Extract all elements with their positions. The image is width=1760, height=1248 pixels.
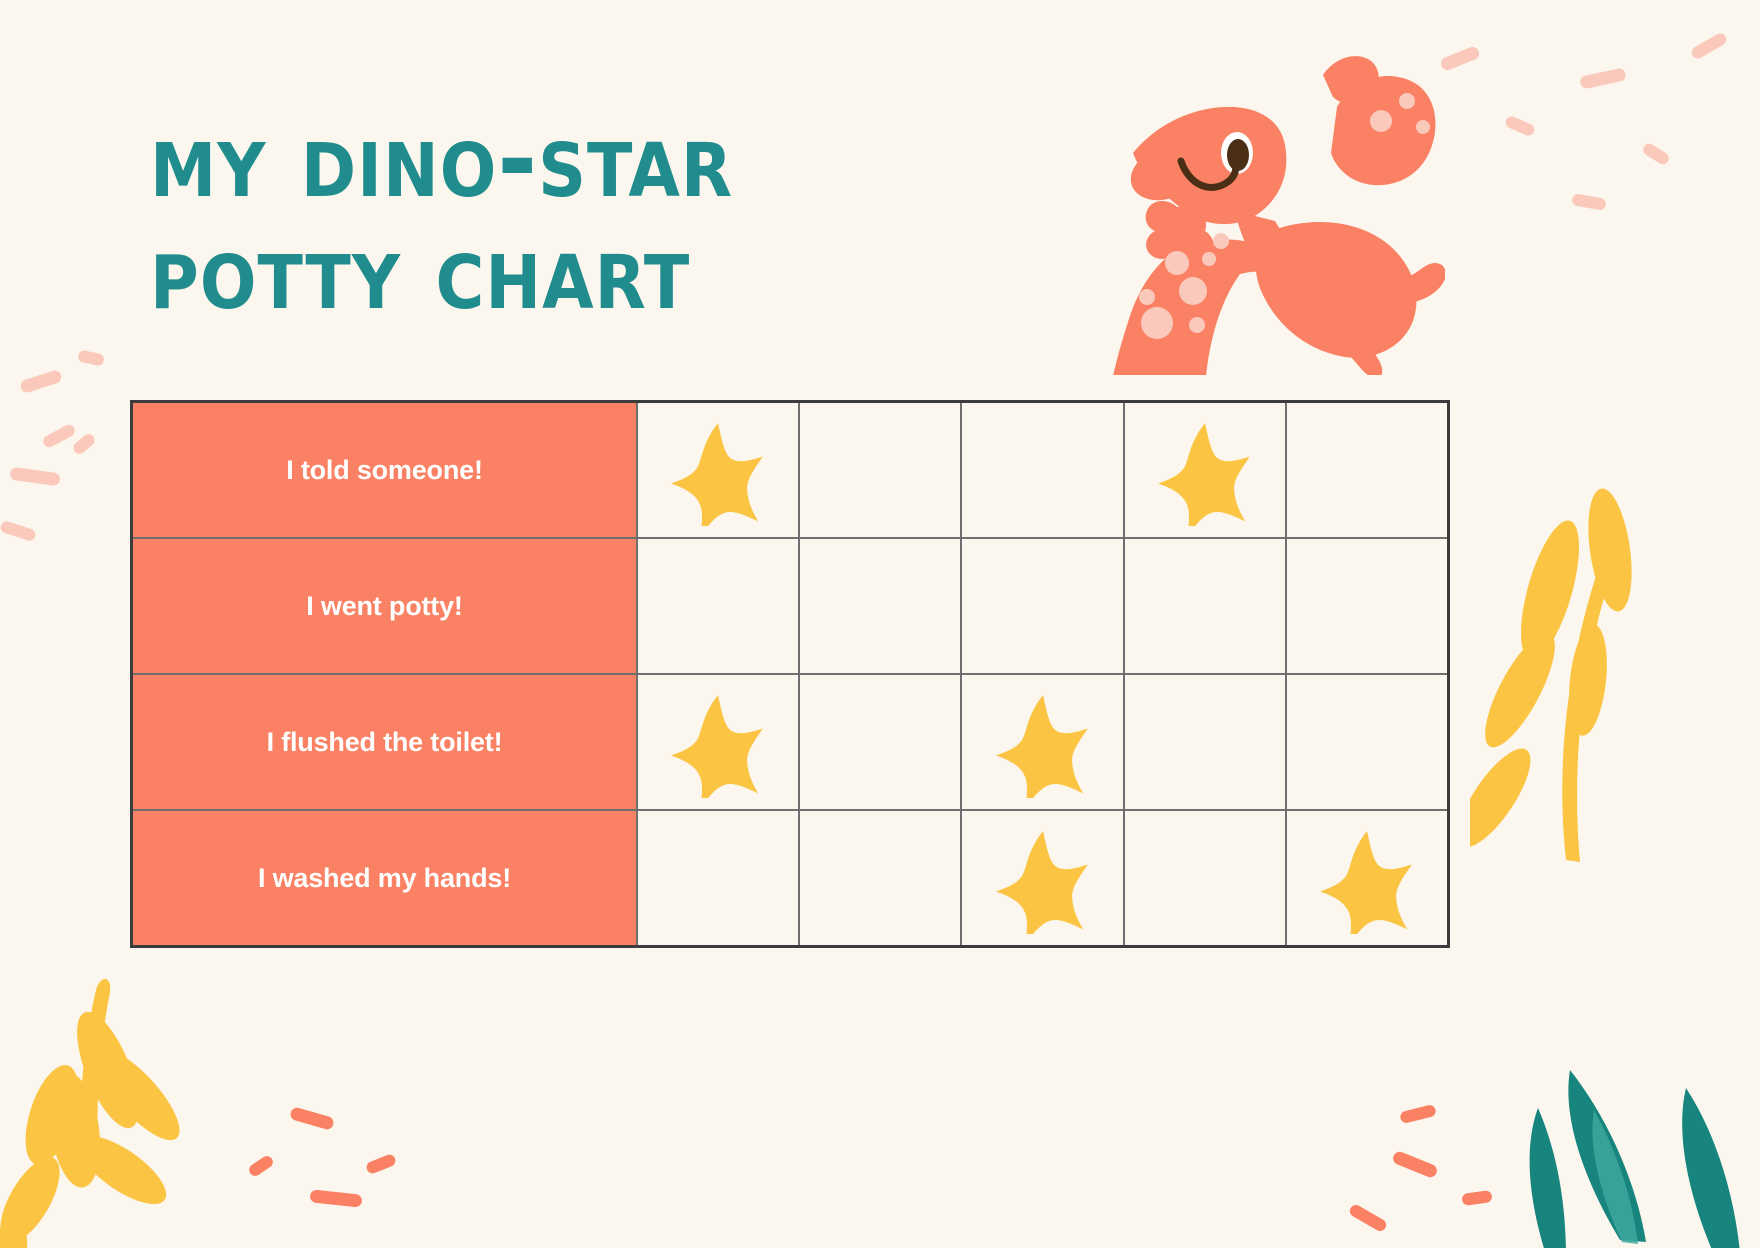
star-icon [987, 822, 1099, 934]
confetti-dash [77, 349, 105, 366]
pterodactyl-icon [1085, 35, 1445, 375]
cell-r3c1[interactable] [638, 675, 800, 809]
confetti-dash [289, 1106, 335, 1131]
confetti-dash [1579, 67, 1627, 89]
cell-r2c1[interactable] [638, 539, 800, 673]
cell-r4c5[interactable] [1287, 811, 1447, 945]
row-label-washed-hands: I washed my hands! [133, 811, 638, 945]
cell-r3c3[interactable] [962, 675, 1124, 809]
title-line-2: Potty Chart [150, 220, 1086, 325]
confetti-dash [365, 1153, 397, 1175]
row-label-told-someone: I told someone! [133, 403, 638, 537]
cell-r1c4[interactable] [1125, 403, 1287, 537]
confetti-dash [1461, 1190, 1492, 1206]
table-row: I went potty! [133, 539, 1447, 675]
cell-r1c3[interactable] [962, 403, 1124, 537]
title-line-1: My Dino-Star [150, 108, 1086, 213]
cell-r1c2[interactable] [800, 403, 962, 537]
confetti-dash [0, 520, 37, 543]
confetti-dash [9, 467, 60, 487]
cell-r3c5[interactable] [1287, 675, 1447, 809]
row-label-went-potty: I went potty! [133, 539, 638, 673]
cell-r3c4[interactable] [1125, 675, 1287, 809]
cell-r4c2[interactable] [800, 811, 962, 945]
confetti-dash [247, 1154, 275, 1178]
foliage-right-yellow [1470, 480, 1760, 900]
cell-r2c2[interactable] [800, 539, 962, 673]
confetti-dash [1504, 114, 1536, 137]
confetti-dash [1690, 31, 1729, 60]
star-icon [1311, 822, 1423, 934]
cell-r1c1[interactable] [638, 403, 800, 537]
confetti-dash [71, 432, 97, 457]
star-icon [987, 686, 1099, 798]
star-icon [662, 686, 774, 798]
table-row: I told someone! [133, 403, 1447, 539]
confetti-dash [1391, 1150, 1439, 1179]
cell-r2c5[interactable] [1287, 539, 1447, 673]
star-icon [1149, 414, 1261, 526]
confetti-dash [19, 369, 63, 394]
table-row: I washed my hands! [133, 811, 1447, 945]
potty-chart-table: I told someone! I went potty! I flushed … [130, 400, 1450, 948]
cell-r4c1[interactable] [638, 811, 800, 945]
table-row: I flushed the toilet! [133, 675, 1447, 811]
cell-r2c4[interactable] [1125, 539, 1287, 673]
cell-r2c3[interactable] [962, 539, 1124, 673]
confetti-dash [1571, 193, 1607, 211]
confetti-dash [1348, 1203, 1389, 1233]
page-title: My Dino-Star Potty Chart [150, 108, 1050, 310]
cell-r1c5[interactable] [1287, 403, 1447, 537]
poster-canvas: My Dino-Star Potty Chart [0, 0, 1760, 1248]
foliage-bottom-right [1500, 950, 1760, 1248]
confetti-dash [41, 423, 77, 450]
star-icon [662, 414, 774, 526]
confetti-dash [309, 1189, 362, 1207]
confetti-dash [1439, 45, 1481, 72]
confetti-dash [1641, 141, 1671, 166]
cell-r4c3[interactable] [962, 811, 1124, 945]
cell-r4c4[interactable] [1125, 811, 1287, 945]
confetti-dash [1399, 1104, 1437, 1124]
cell-r3c2[interactable] [800, 675, 962, 809]
row-label-flushed-toilet: I flushed the toilet! [133, 675, 638, 809]
